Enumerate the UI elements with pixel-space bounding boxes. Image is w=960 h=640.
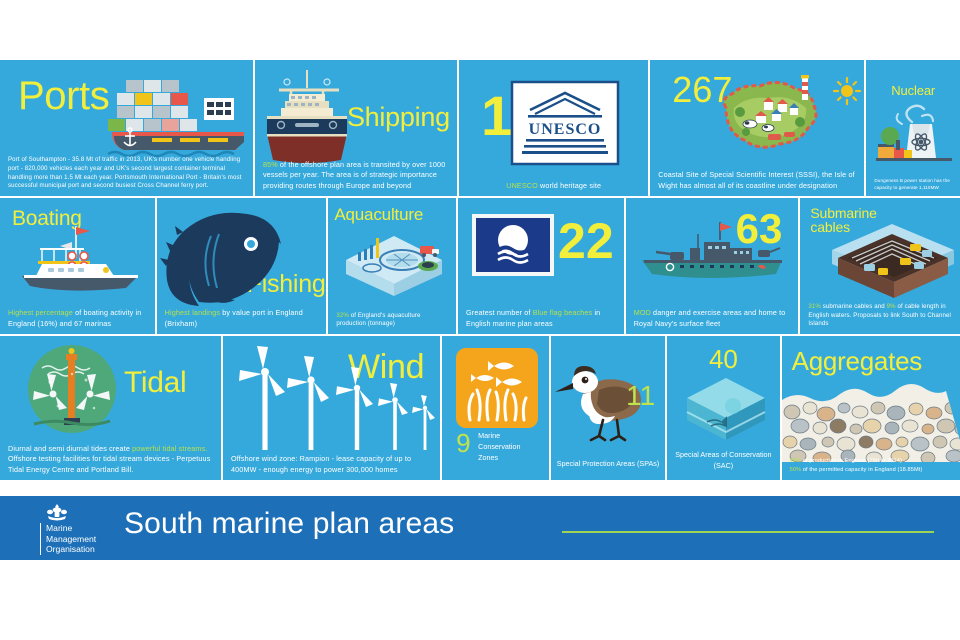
sun-icon xyxy=(832,76,862,106)
panel-mod[interactable]: 63 xyxy=(626,198,799,334)
panel-nuclear-caption: Dungeness B power station has the capaci… xyxy=(874,178,954,191)
aggregates-caption-line-1: 40% of production in England (7Mt in 201… xyxy=(790,457,954,466)
panel-tidal-caption: Diurnal and semi diurnal tides create po… xyxy=(8,444,215,475)
boating-highlight: Highest percentage xyxy=(8,308,73,317)
panel-wind-caption: Offshore wind zone: Rampion - lease capa… xyxy=(231,454,434,475)
mmo-logo: Marine Management Organisation xyxy=(40,504,126,552)
aggregates-highlight-2: 50% xyxy=(790,467,802,473)
panel-aquaculture-caption: 32% of England's aquaculture production … xyxy=(336,312,450,329)
panel-blueflag-caption: Greatest number of Blue flag beaches in … xyxy=(466,308,618,329)
panel-spa[interactable]: 11 Special Protection Areas (SPAs) xyxy=(551,336,665,480)
blueflag-caption-pre: Greatest number of xyxy=(466,308,533,317)
wind-turbines-icon xyxy=(229,346,440,450)
infographic-row-3: Tidal xyxy=(0,336,960,480)
infographic-board: Ports xyxy=(0,60,960,560)
panel-sac[interactable]: 40 Special Areas of Conservation (SAC) xyxy=(667,336,779,480)
navy-warship-icon xyxy=(636,222,788,290)
submarine-cable-trench-icon xyxy=(830,224,956,300)
panel-sac-caption: Special Areas of Conservation (SAC) xyxy=(671,450,775,472)
panel-blueflag[interactable]: 22 Greatest number of Blue flag beaches … xyxy=(458,198,624,334)
aquaculture-highlight: 32% xyxy=(336,312,349,319)
seabed-habitat-cube-icon xyxy=(685,378,767,448)
panel-aquaculture[interactable]: Aquaculture xyxy=(328,198,456,334)
tidal-caption-pre: Diurnal and semi diurnal tides create xyxy=(8,444,132,453)
fish-farm-icon xyxy=(342,230,446,296)
mmo-line-2: Management xyxy=(46,534,126,545)
motor-yacht-icon xyxy=(14,224,146,294)
gravel-aggregates-icon xyxy=(782,384,960,462)
tidal-caption-post: Offshore testing facilities for tidal st… xyxy=(8,454,210,473)
footer-title: South marine plan areas xyxy=(124,507,454,541)
shipping-highlight: 85% xyxy=(263,160,278,169)
panel-fishing[interactable]: Fishing xyxy=(157,198,327,334)
panel-aquaculture-title: Aquaculture xyxy=(334,206,423,223)
mmo-line-3: Organisation xyxy=(46,544,126,555)
panel-ports-title: Ports xyxy=(18,76,109,116)
panel-ports[interactable]: Ports xyxy=(0,60,253,196)
panel-sssi-caption: Coastal Site of Special Scientific Inter… xyxy=(658,170,858,191)
cargo-vessel-icon xyxy=(261,68,353,164)
panel-unesco-caption: UNESCO world heritage site xyxy=(465,181,642,191)
footer-rule xyxy=(562,531,934,533)
panel-tidal-title: Tidal xyxy=(124,368,186,398)
unesco-logo-text: UNESCO xyxy=(529,121,602,138)
tidal-turbine-icon xyxy=(26,344,118,434)
infographic-row-2: Boating xyxy=(0,198,960,334)
royal-crest-icon xyxy=(44,504,70,520)
unesco-highlight: UNESCO xyxy=(506,181,538,190)
mod-caption-text: danger and exercise areas and home to Ro… xyxy=(634,308,786,327)
panel-nuclear-title: Nuclear xyxy=(866,84,960,97)
panel-aggregates[interactable]: Aggregates xyxy=(782,336,960,480)
container-ship-icon xyxy=(108,74,248,162)
mmo-line-1: Marine xyxy=(46,523,126,534)
panel-wind[interactable]: Wind xyxy=(223,336,440,480)
panel-mcz-caption: Marine Conservation Zones xyxy=(478,431,540,463)
infographic-row-1: Ports xyxy=(0,60,960,196)
seagrass-fish-icon xyxy=(456,348,538,428)
panel-aggregates-caption: 40% of production in England (7Mt in 201… xyxy=(790,457,954,475)
aggregates-line2-text: of the permitted capacity in England (18… xyxy=(801,467,922,473)
panel-spa-number: 11 xyxy=(626,382,655,410)
panel-mcz-number: 9 xyxy=(456,430,470,456)
panel-sac-number: 40 xyxy=(667,346,779,372)
panel-tidal[interactable]: Tidal xyxy=(0,336,221,480)
panel-aggregates-title: Aggregates xyxy=(792,348,922,374)
aquaculture-caption-text: of England's aquaculture production (ton… xyxy=(336,312,420,328)
fish-icon xyxy=(159,202,287,308)
panel-sssi[interactable]: 267 xyxy=(650,60,864,196)
cables-highlight-1: 31% xyxy=(808,303,821,310)
panel-mcz[interactable]: 9 Marine Conservation Zones xyxy=(442,336,549,480)
panel-nuclear[interactable]: Nuclear xyxy=(866,60,960,196)
tidal-highlight: powerful tidal streams. xyxy=(132,444,207,453)
isle-of-wight-island-icon xyxy=(716,72,828,156)
panel-ports-caption: Port of Southampton - 35.8 Mt of traffic… xyxy=(8,156,247,191)
cables-caption-mid: submarine cables and xyxy=(821,303,887,310)
panel-fishing-caption: Highest landings by value port in Englan… xyxy=(165,308,321,329)
panel-cables[interactable]: Submarine cables xyxy=(800,198,960,334)
panel-shipping-caption: 85% of the offshore plan area is transit… xyxy=(263,160,451,191)
panel-boating-caption: Highest percentage of boating activity i… xyxy=(8,308,149,329)
fishing-highlight: Highest landings xyxy=(165,308,220,317)
panel-shipping[interactable]: Shipping xyxy=(255,60,457,196)
aggregates-caption-line-2: 50% of the permitted capacity in England… xyxy=(790,466,954,475)
panel-blueflag-number: 22 xyxy=(558,216,614,266)
nuclear-power-station-icon xyxy=(876,102,952,164)
panel-mod-caption: MOD danger and exercise areas and home t… xyxy=(634,308,793,329)
panel-cables-caption: 31% submarine cables and 9% of cable len… xyxy=(808,303,954,329)
panel-unesco-number: 1 xyxy=(481,88,512,144)
aggregates-line1-text: of production in England (7Mt in 2014) xyxy=(801,458,902,464)
panel-boating[interactable]: Boating xyxy=(0,198,155,334)
unesco-logo-icon: UNESCO xyxy=(512,82,618,164)
unesco-caption-text: world heritage site xyxy=(538,181,601,190)
panel-unesco[interactable]: 1 UNESCO UNESCO world heritage site xyxy=(459,60,648,196)
shipping-caption-text: of the offshore plan area is transited b… xyxy=(263,160,445,190)
mod-highlight: MOD xyxy=(634,308,651,317)
panel-shipping-title: Shipping xyxy=(347,104,450,131)
blueflag-highlight: Blue flag beaches xyxy=(533,308,593,317)
aggregates-highlight-1: 40% xyxy=(790,458,802,464)
footer-bar: Marine Management Organisation South mar… xyxy=(0,496,960,560)
panel-spa-caption: Special Protection Areas (SPAs) xyxy=(555,459,661,470)
cables-highlight-2: 9% xyxy=(887,303,896,310)
blue-flag-icon xyxy=(472,214,554,276)
